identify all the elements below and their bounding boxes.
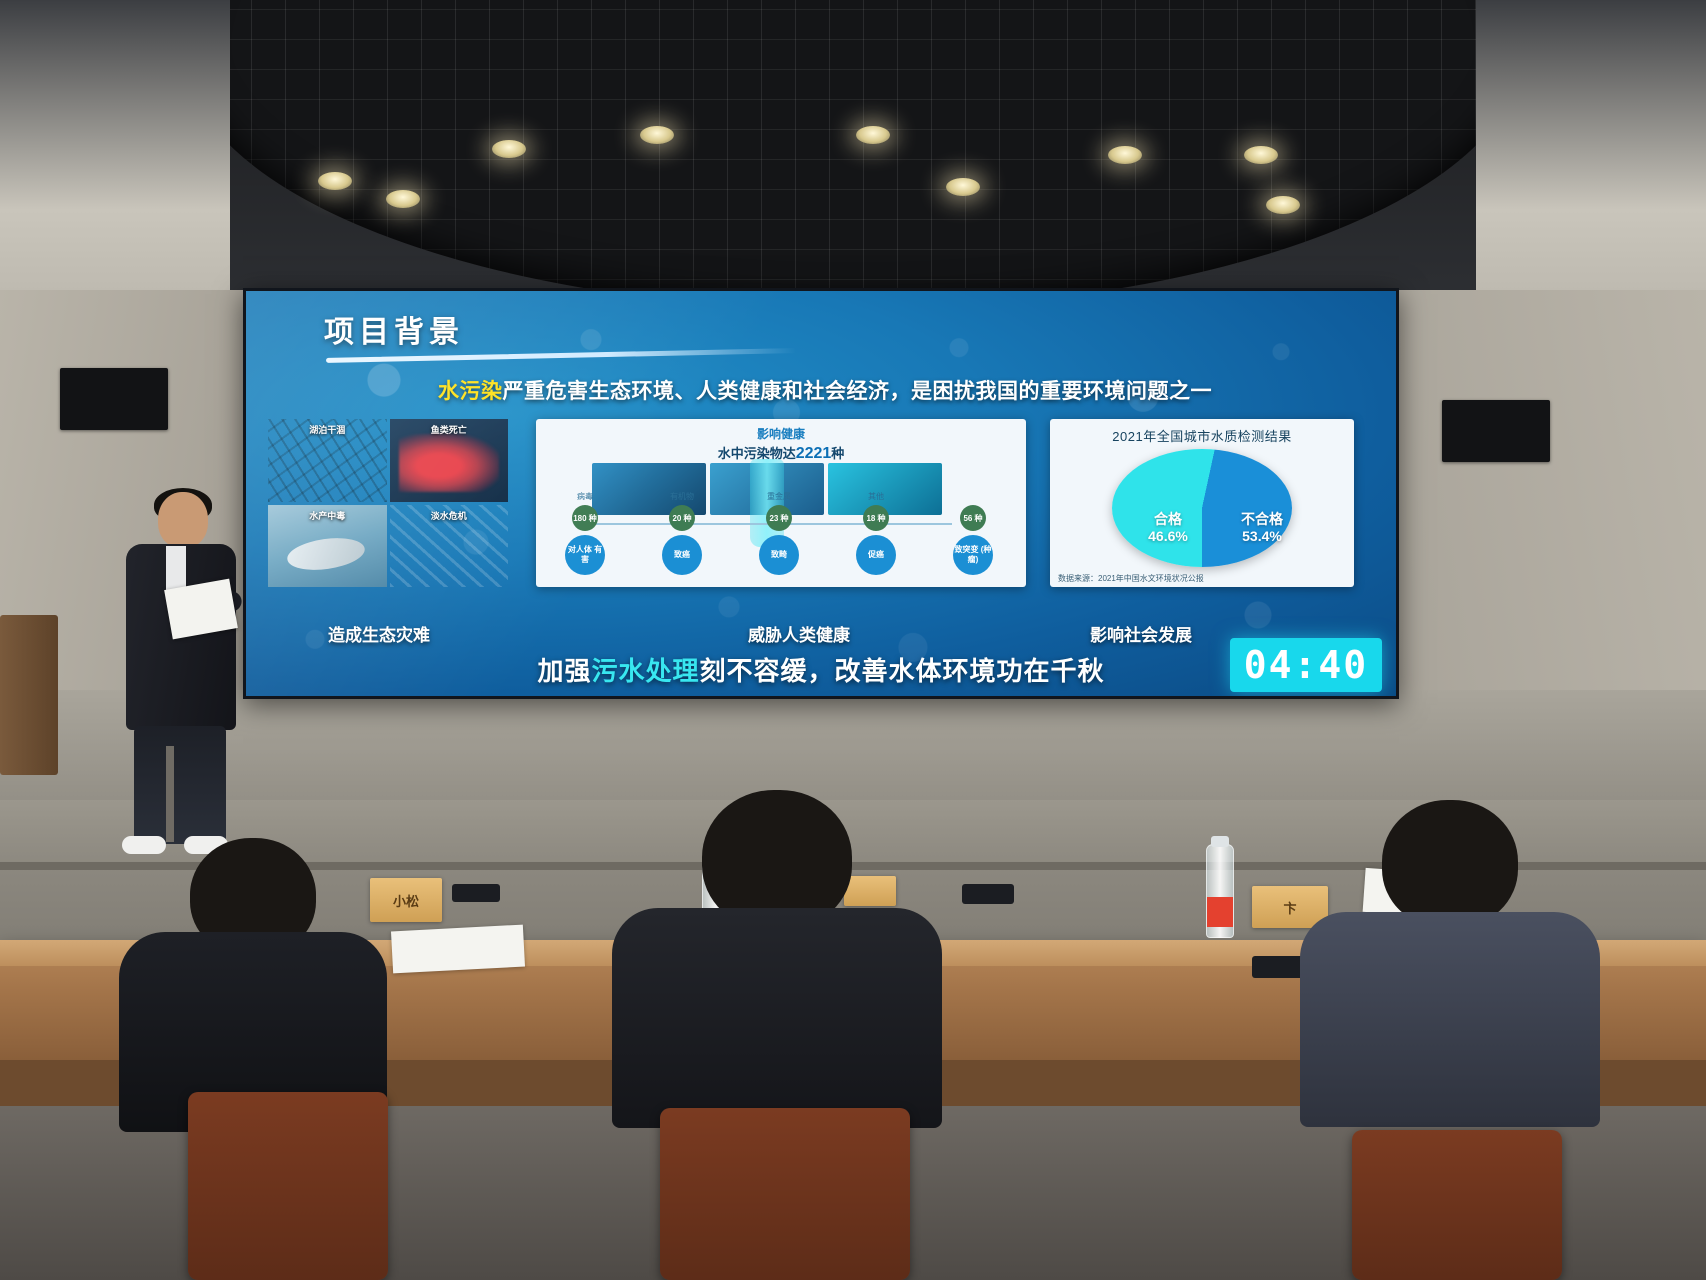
conference-room-scene: 项目背景 水污染严重危害生态环境、人类健康和社会经济，是困扰我国的重要环境问题之…	[0, 0, 1706, 1280]
pie-label-value: 53.4%	[1216, 528, 1308, 545]
pollution-photo-grid: 湖泊干涸 鱼类死亡 水产中毒 淡水危机	[268, 419, 508, 587]
paper-sheet	[391, 925, 525, 974]
photo-freshwater-crisis: 淡水危机	[390, 505, 509, 588]
pie-label-value: 46.6%	[1126, 528, 1210, 545]
presenter-shirt	[166, 546, 186, 590]
pollutant-chip: 病毒 180 种 对人体 有害	[564, 515, 606, 579]
attendee-left	[118, 820, 388, 1120]
chair-center	[660, 1108, 910, 1280]
ceiling-left-soffit	[0, 0, 230, 300]
smartphone[interactable]	[452, 884, 500, 902]
panel-captions: 造成生态灾难 威胁人类健康 影响社会发展	[268, 621, 1376, 647]
slide-subtitle-highlight: 水污染	[438, 380, 503, 403]
pollutant-chip: 有机物 20 种 致癌	[661, 515, 703, 579]
side-podium	[0, 615, 58, 775]
presenter	[108, 492, 250, 862]
slide-subtitle: 水污染严重危害生态环境、人类健康和社会经济，是困扰我国的重要环境问题之一	[290, 375, 1360, 405]
ceiling-lamp	[640, 126, 674, 144]
attendee-center	[612, 790, 942, 1120]
bottle-cap	[1211, 836, 1229, 847]
pie-label-text: 合格	[1126, 511, 1210, 528]
slide-subtitle-rest: 严重危害生态环境、人类健康和社会经济，是困扰我国的重要环境问题之一	[503, 380, 1213, 403]
photo-dead-fish: 鱼类死亡	[390, 419, 509, 502]
presenter-head	[158, 492, 208, 548]
slide-surface: 项目背景 水污染严重危害生态环境、人类健康和社会经济，是困扰我国的重要环境问题之…	[246, 291, 1396, 696]
ceiling-grid	[183, 0, 1523, 300]
pollutant-chip: 其他 18 种 促癌	[855, 515, 897, 579]
chip-count: 23 种	[766, 505, 792, 531]
photo-label-top-left: 湖泊干涸	[268, 423, 387, 436]
tagline-part-a: 加强	[537, 656, 591, 686]
pollutant-chip: 56 种 致突变 (种瘤)	[952, 515, 994, 579]
attendee-head	[1382, 800, 1518, 928]
nameplate-right-text: 卞	[1283, 898, 1296, 917]
attendee-right	[1300, 790, 1600, 1120]
slide-title: 项目背景	[324, 307, 464, 351]
chip-label: 致畸	[759, 535, 799, 575]
pie-slice-label-qualified: 合格 46.6%	[1126, 511, 1210, 545]
pollutant-chip-row: 病毒 180 种 对人体 有害 有机物 20 种 致癌 重金属 23 种	[564, 515, 994, 579]
projection-screen[interactable]: 项目背景 水污染严重危害生态环境、人类健康和社会经济，是困扰我国的重要环境问题之…	[243, 288, 1399, 699]
chip-count: 20 种	[669, 505, 695, 531]
tagline-highlight: 污水处理	[591, 656, 699, 686]
bottle-label	[1207, 897, 1233, 927]
photo-label-top-right: 鱼类死亡	[390, 423, 509, 436]
health-card-heading: 影响健康	[536, 425, 1026, 442]
ceiling	[0, 0, 1706, 300]
caption-ecological: 造成生态灾难	[328, 621, 430, 646]
nameplate-left-text: 小松	[393, 891, 419, 910]
attendee-suit	[1300, 912, 1600, 1127]
chart-title: 2021年全国城市水质检测结果	[1050, 426, 1354, 445]
wall-acoustic-panel	[1442, 400, 1550, 462]
countdown-timer: 04:40	[1230, 638, 1382, 692]
caption-society: 影响社会发展	[1090, 621, 1192, 646]
chip-label: 对人体 有害	[565, 535, 605, 575]
pie-label-text: 不合格	[1216, 511, 1308, 528]
chip-label: 致癌	[662, 535, 702, 575]
slide-tagline: 加强污水处理刻不容缓，改善水体环境功在千秋	[246, 651, 1396, 688]
water-bottle[interactable]	[1206, 844, 1234, 938]
ceiling-lamp	[856, 126, 890, 144]
pollutant-post: 种	[831, 446, 844, 461]
caption-health: 威胁人类健康	[748, 621, 850, 646]
ceiling-lamp	[1244, 146, 1278, 164]
chip-label: 促癌	[856, 535, 896, 575]
wall-acoustic-panel	[60, 368, 168, 430]
photo-dry-lake: 湖泊干涸	[268, 419, 387, 502]
water-quality-pie-chart	[1112, 449, 1292, 567]
chip-category: 有机物	[670, 491, 694, 502]
chip-category: 其他	[868, 491, 884, 502]
tagline-part-b: 刻不容缓，改善水体环境功在千秋	[700, 656, 1105, 686]
photo-label-bottom-left: 水产中毒	[268, 509, 387, 522]
smartphone[interactable]	[962, 884, 1014, 904]
photo-poisoned-aquaculture: 水产中毒	[268, 505, 387, 588]
chair-right	[1352, 1130, 1562, 1280]
chip-label: 致突变 (种瘤)	[953, 535, 993, 575]
ceiling-lamp	[1108, 146, 1142, 164]
ceiling-lamp	[946, 178, 980, 196]
ceiling-lamp	[386, 190, 420, 208]
chip-count: 56 种	[960, 505, 986, 531]
chip-count: 180 种	[572, 505, 598, 531]
health-impact-card: 影响健康 水中污染物达2221种 病毒 180 种	[536, 419, 1026, 587]
photo-label-bottom-right: 淡水危机	[390, 509, 509, 522]
chip-count: 18 种	[863, 505, 889, 531]
ceiling-right-soffit	[1476, 0, 1706, 300]
chart-data-source: 数据来源：2021年中国水文环境状况公报	[1058, 573, 1204, 584]
attendee-suit	[612, 908, 942, 1128]
ceiling-lamp	[1266, 196, 1300, 214]
countdown-timer-value: 04:40	[1244, 643, 1368, 687]
chip-category: 病毒	[577, 491, 593, 502]
pollutant-count: 2221	[796, 445, 832, 462]
water-quality-chart-card: 2021年全国城市水质检测结果 合格 46.6% 不合格 53.4% 数据来源：…	[1050, 419, 1354, 587]
ceiling-lamp	[318, 172, 352, 190]
pie-slice-label-unqualified: 不合格 53.4%	[1216, 511, 1308, 545]
slide-panels: 湖泊干涸 鱼类死亡 水产中毒 淡水危机 影响健康 水	[268, 419, 1376, 609]
strip-photo-3	[828, 463, 942, 515]
pollutant-chip: 重金属 23 种 致畸	[758, 515, 800, 579]
ceiling-lamp	[492, 140, 526, 158]
chair-left	[188, 1092, 388, 1280]
chip-category: 重金属	[767, 491, 791, 502]
